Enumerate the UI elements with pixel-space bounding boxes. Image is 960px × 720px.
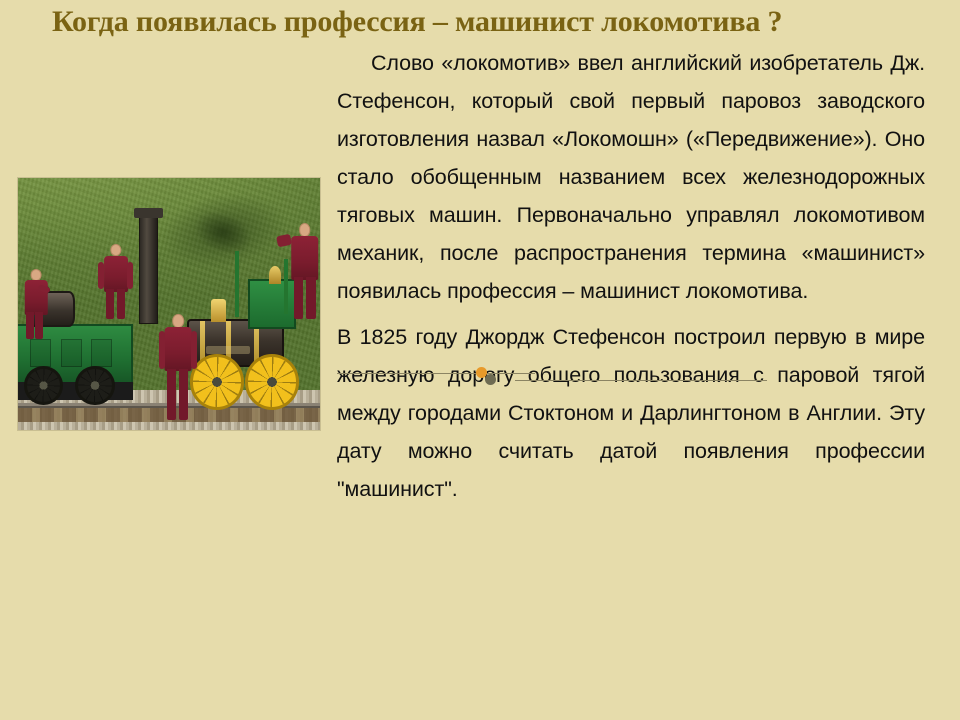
paragraph-1: Слово «локомотив» ввел английский изобре… <box>337 44 925 310</box>
smokestack <box>139 213 159 324</box>
brass-dome <box>211 299 226 322</box>
worker-leg <box>179 369 188 420</box>
photo-canvas <box>18 178 320 430</box>
worker-torso <box>291 236 319 280</box>
worker-arm-raised <box>276 233 292 246</box>
worker-arm <box>191 331 197 369</box>
brass-safety-valve <box>269 266 281 284</box>
worker-leg <box>26 312 34 339</box>
tender-wheel <box>24 366 63 405</box>
worker-head <box>111 244 122 257</box>
worker-head <box>299 223 311 236</box>
boiler-nameplate <box>206 346 250 354</box>
worker-figure <box>100 244 133 320</box>
tender-panel <box>30 339 51 367</box>
worker-arm <box>159 331 165 369</box>
worker-head <box>172 314 184 328</box>
locomotive-photo <box>18 178 320 430</box>
page-title: Когда появилась профессия – машинист лок… <box>52 4 952 40</box>
worker-torso <box>165 327 192 371</box>
worker-figure <box>160 314 196 420</box>
worker-leg <box>294 277 303 319</box>
worker-figure <box>287 223 320 319</box>
worker-leg <box>117 289 126 319</box>
green-handrail-post <box>235 251 239 317</box>
smokestack-cap <box>134 208 163 218</box>
tender-panel <box>61 339 82 367</box>
worker-head <box>31 269 42 281</box>
worker-leg <box>167 369 176 420</box>
worker-arm <box>127 262 133 289</box>
tender-wheel <box>75 366 114 405</box>
worker-torso <box>104 256 128 292</box>
body-text-column: Слово «локомотив» ввел английский изобре… <box>337 44 925 508</box>
tender-panel <box>91 339 112 367</box>
driving-wheel <box>190 354 244 409</box>
worker-arm <box>98 262 104 289</box>
driving-wheel <box>245 354 299 409</box>
worker-leg <box>106 289 115 319</box>
paragraph-2: В 1825 году Джордж Стефенсон построил пе… <box>337 318 925 508</box>
worker-leg <box>35 312 43 339</box>
worker-leg <box>306 277 315 319</box>
worker-figure <box>18 269 54 340</box>
